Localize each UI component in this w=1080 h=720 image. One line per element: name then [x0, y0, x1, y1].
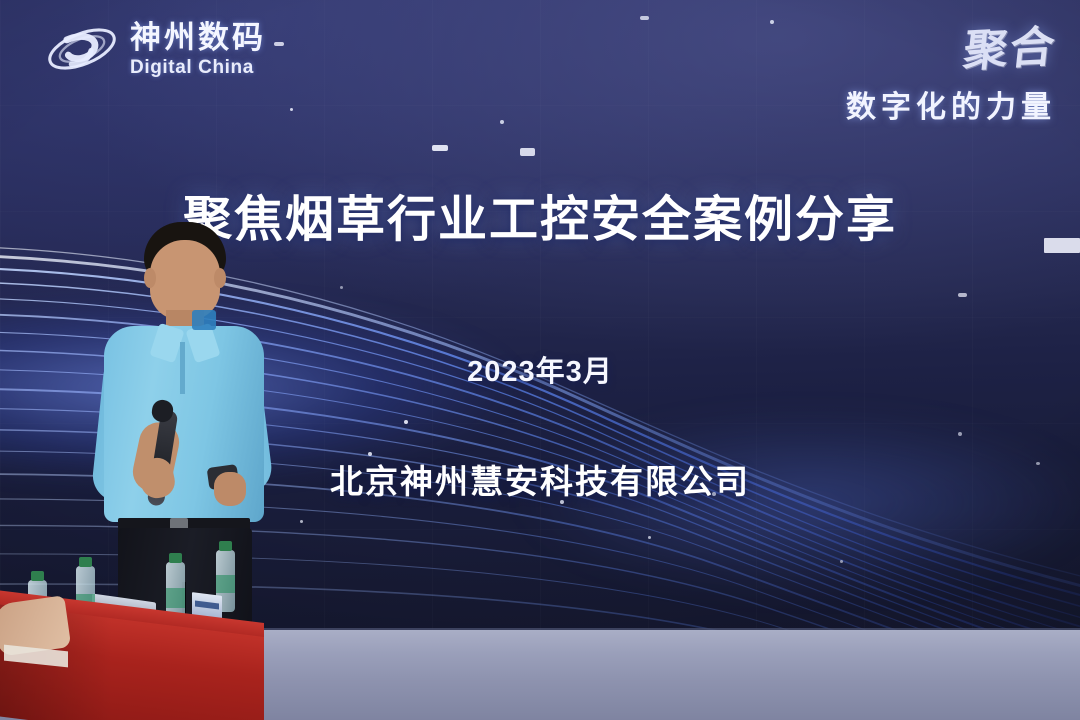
brand-wordmark: 神州数码 Digital China	[130, 22, 266, 77]
swirl-galaxy-icon	[44, 20, 120, 78]
presenter-placket	[180, 342, 185, 394]
digital-china-logo: 神州数码 Digital China	[44, 20, 266, 78]
presenter	[96, 222, 286, 632]
brand-name-cn: 神州数码	[130, 22, 266, 53]
bottle-cap-icon	[169, 553, 182, 563]
event-calligraphy: 聚合	[842, 11, 1060, 86]
screenshot-root: 神州数码 Digital China 聚合 数字化的力量 聚焦烟草行业工控安全案…	[0, 0, 1080, 720]
bottle-cap-icon	[79, 557, 92, 567]
company-badge-icon	[192, 310, 216, 330]
bottle-cap-icon	[219, 541, 232, 551]
presenter-ear-left	[144, 268, 156, 288]
event-tagline: 数字化的力量	[846, 82, 1056, 126]
bottle-label	[216, 575, 235, 594]
presenter-hand-right	[214, 472, 246, 506]
brand-name-en: Digital China	[130, 58, 266, 77]
event-logo: 聚合 数字化的力量	[846, 16, 1056, 126]
bottle-cap-icon	[31, 571, 44, 581]
presenter-face	[150, 240, 220, 320]
presenter-ear-right	[214, 268, 226, 288]
